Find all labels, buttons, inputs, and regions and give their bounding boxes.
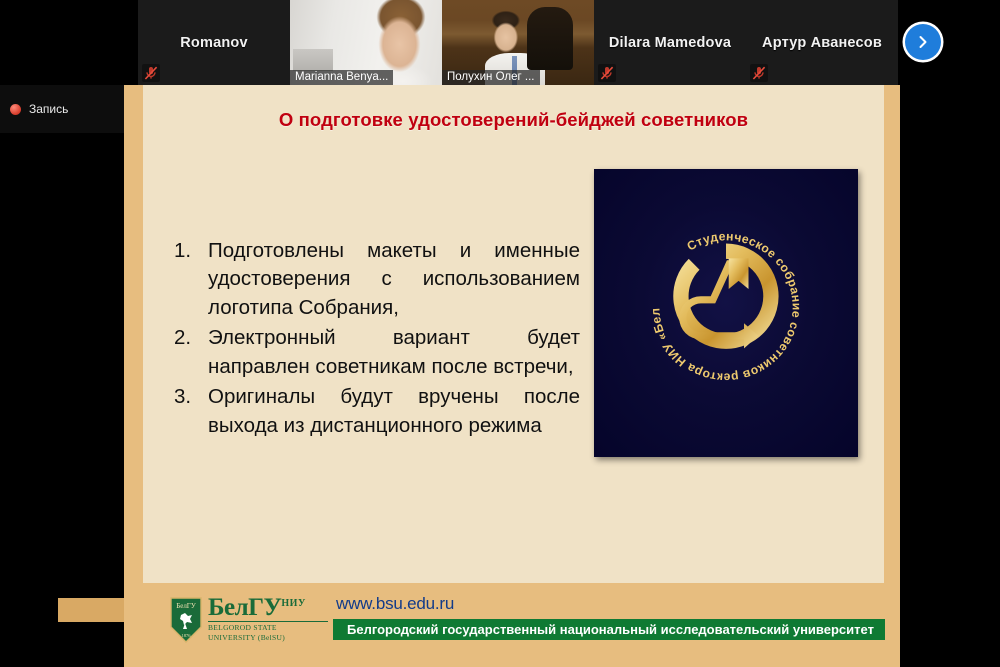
website-url[interactable]: www.bsu.edu.ru (336, 594, 454, 614)
list-item: 2. Электронный вариант будет направлен с… (170, 324, 580, 381)
participant-name: Артур Аванесов (762, 35, 882, 51)
belgu-wordmark-sub-2: UNIVERSITY (BelSU) (208, 632, 328, 642)
mic-off-icon (142, 64, 160, 82)
slide-left-band (124, 85, 143, 667)
emblem-ring-text: Студенческое собрание советников ректора… (636, 217, 804, 385)
slide-bullet-list: 1. Подготовлены макеты и именные удостов… (170, 237, 580, 442)
emblem-panel: Студенческое собрание советников ректора… (594, 169, 858, 457)
slide-right-band (884, 85, 900, 667)
chevron-right-icon (914, 33, 932, 51)
participant-name: Dilara Mamedova (609, 35, 731, 51)
belgu-wordmark-sub-1: BELGOROD STATE (208, 621, 328, 632)
studencheskoe-sobranie-emblem: Студенческое собрание советников ректора… (636, 217, 816, 397)
participant-filmstrip: Romanov Marianna Benya... Полухин Олег .… (0, 0, 1000, 85)
list-item-text: Оригиналы будут вручены после выхода из … (208, 383, 580, 440)
participant-name: Marianna Benya... (290, 70, 393, 85)
list-item-text: Подготовлены макеты и именные удостовере… (208, 237, 580, 322)
list-item: 1. Подготовлены макеты и именные удостов… (170, 237, 580, 322)
participant-name: Полухин Олег ... (442, 70, 540, 85)
recording-label: Запись (29, 102, 68, 116)
next-participants-button[interactable] (905, 24, 941, 60)
shared-slide: О подготовке удостоверений-бейджей совет… (124, 85, 900, 667)
svg-text:БелГУ: БелГУ (176, 602, 196, 610)
participant-tile-dilara[interactable]: Dilara Mamedova (594, 0, 746, 85)
university-tagline-bar: Белгородский государственный национальны… (332, 618, 886, 641)
belgu-wordmark-text: БелГУ (208, 594, 281, 621)
svg-text:1876: 1876 (182, 633, 192, 638)
belgu-shield-icon: БелГУ 1876 (170, 597, 202, 643)
participant-tile-marianna[interactable]: Marianna Benya... (290, 0, 442, 85)
participant-tile-polukhin[interactable]: Полухин Олег ... (442, 0, 594, 85)
list-item-number: 1. (170, 237, 208, 322)
list-item: 3. Оригиналы будут вручены после выхода … (170, 383, 580, 440)
mic-off-icon (598, 64, 616, 82)
record-dot-icon (10, 104, 21, 115)
participant-tile-artur[interactable]: Артур Аванесов (746, 0, 898, 85)
participant-name: Romanov (180, 35, 247, 51)
belgu-wordmark-super: НИУ (281, 598, 305, 609)
participant-tile-romanov[interactable]: Romanov (138, 0, 290, 85)
mic-off-icon (750, 64, 768, 82)
list-item-number: 2. (170, 324, 208, 381)
slide-footer: БелГУ 1876 БелГУНИУ BELGOROD STATE UNIVE… (124, 583, 900, 667)
chair-decor (527, 7, 573, 70)
zoom-meeting-window: Romanov Marianna Benya... Полухин Олег .… (0, 0, 1000, 667)
belgu-wordmark-main: БелГУНИУ (208, 595, 328, 620)
svg-text:Студенческое собрание советник: Студенческое собрание советников ректора… (636, 217, 804, 385)
university-tagline: Белгородский государственный национальны… (347, 622, 874, 637)
list-item-number: 3. (170, 383, 208, 440)
slide-edge-stub (58, 598, 124, 622)
list-item-text: Электронный вариант будет направлен сове… (208, 324, 580, 381)
belgu-wordmark: БелГУНИУ BELGOROD STATE UNIVERSITY (BelS… (208, 595, 328, 643)
recording-indicator[interactable]: Запись (0, 85, 124, 133)
slide-title: О подготовке удостоверений-бейджей совет… (143, 109, 884, 131)
